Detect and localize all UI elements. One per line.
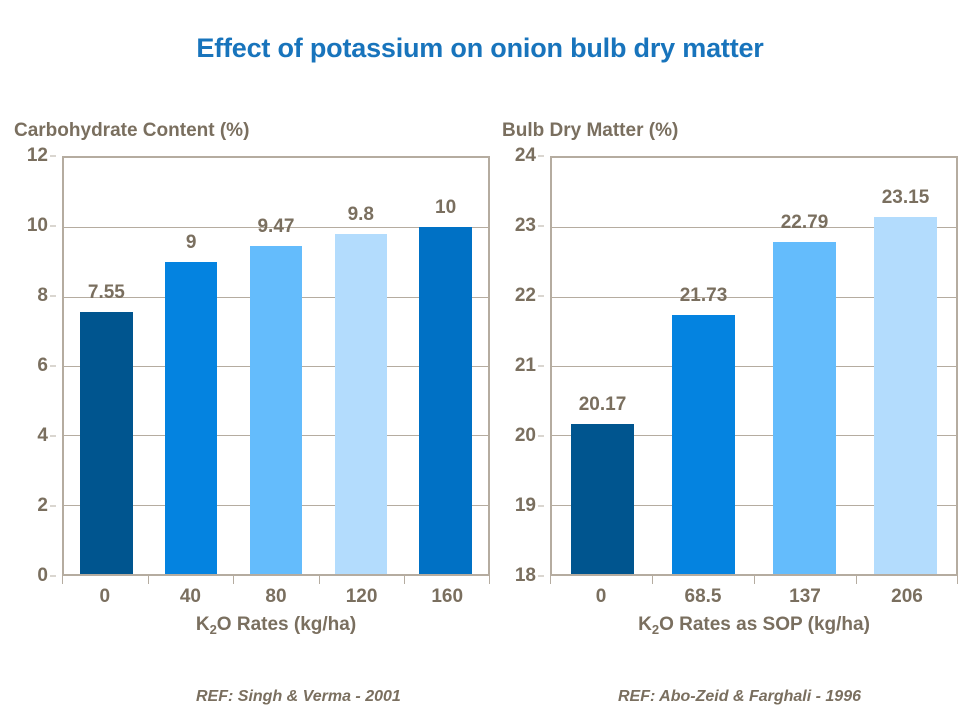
x-axis-title-subscript: 2	[652, 622, 659, 637]
x-axis-left: 04080120160	[62, 576, 490, 610]
y-tick-label: 22	[515, 285, 536, 307]
y-tick-mark	[538, 506, 544, 507]
chart-title-left: Carbohydrate Content (%)	[14, 118, 490, 144]
x-tick-mark	[652, 576, 653, 584]
bar[interactable]: 23.15	[874, 217, 937, 574]
bar[interactable]: 9	[165, 262, 218, 574]
x-axis-title-text: K	[638, 614, 652, 635]
x-tick-label: 80	[233, 576, 319, 608]
reference-citation-left: REF: Singh & Verma - 2001	[196, 688, 401, 706]
y-tick-label: 2	[37, 495, 48, 517]
y-tick-mark	[50, 156, 56, 157]
slide-root: Effect of potassium on onion bulb dry ma…	[0, 0, 960, 720]
x-tick-slot: 120	[319, 576, 405, 608]
x-tick-mark	[62, 576, 63, 584]
x-tick-list-right: 068.5137206	[550, 576, 958, 608]
bar[interactable]: 9.47	[250, 246, 303, 574]
bar-value-label: 10	[435, 197, 456, 219]
plot-area-right: 20.1721.7322.7923.15	[550, 156, 958, 576]
x-axis-title-text: O Rates (kg/ha)	[217, 614, 356, 635]
bar-value-label: 9.8	[348, 204, 374, 226]
bar[interactable]: 10	[419, 227, 472, 574]
y-tick-mark	[50, 435, 56, 436]
y-axis-right: 18192021222324	[498, 156, 544, 576]
x-tick-mark	[489, 576, 490, 584]
bar[interactable]: 20.17	[571, 424, 634, 574]
x-tick-slot: 0	[550, 576, 652, 608]
bar-slot: 21.73	[653, 158, 754, 574]
y-tick-mark	[50, 506, 56, 507]
x-axis-title-text: O Rates as SOP (kg/ha)	[659, 614, 870, 635]
x-tick-slot: 0	[62, 576, 148, 608]
bar[interactable]: 9.8	[335, 234, 388, 574]
y-tick-label: 6	[37, 355, 48, 377]
bar[interactable]: 7.55	[80, 312, 133, 574]
bar-value-label: 9	[186, 232, 197, 254]
y-tick-label: 0	[37, 565, 48, 587]
x-axis-right: 068.5137206	[550, 576, 958, 610]
y-tick-label: 24	[515, 145, 536, 167]
chart-panel-bulb-dry-matter: Bulb Dry Matter (%) 18192021222324 20.17…	[498, 118, 958, 636]
x-tick-mark	[856, 576, 857, 584]
x-tick-mark	[319, 576, 320, 584]
x-tick-label: 0	[550, 576, 652, 608]
x-axis-title-right: K2O Rates as SOP (kg/ha)	[550, 610, 958, 636]
reference-citation-right: REF: Abo-Zeid & Farghali - 1996	[618, 688, 861, 706]
y-tick-label: 19	[515, 495, 536, 517]
x-tick-label: 206	[856, 576, 958, 608]
x-tick-list-left: 04080120160	[62, 576, 490, 608]
y-tick-label: 20	[515, 425, 536, 447]
bar-chart-carbohydrate: 024681012 7.5599.479.810 04080120160 K2O…	[10, 156, 490, 636]
plot-area-left: 7.5599.479.810	[62, 156, 490, 576]
x-axis-title-subscript: 2	[210, 622, 217, 637]
x-axis-title-text: K	[196, 614, 210, 635]
bar-value-label: 9.47	[257, 216, 294, 238]
y-tick-mark	[50, 225, 56, 226]
bar-value-label: 22.79	[781, 212, 829, 234]
y-tick-label: 4	[37, 425, 48, 447]
bar-series-left: 7.5599.479.810	[64, 158, 488, 574]
x-tick-label: 160	[404, 576, 490, 608]
page-title: Effect of potassium on onion bulb dry ma…	[0, 33, 960, 64]
x-tick-label: 0	[62, 576, 148, 608]
y-tick-mark	[538, 156, 544, 157]
y-tick-mark	[50, 576, 56, 577]
bar-slot: 9.8	[318, 158, 403, 574]
x-tick-label: 137	[754, 576, 856, 608]
y-tick-mark	[50, 295, 56, 296]
y-tick-label: 8	[37, 285, 48, 307]
y-tick-mark	[538, 225, 544, 226]
x-tick-mark	[233, 576, 234, 584]
bar-series-right: 20.1721.7322.7923.15	[552, 158, 956, 574]
y-tick-label: 18	[515, 565, 536, 587]
y-tick-mark	[538, 435, 544, 436]
x-tick-label: 120	[319, 576, 405, 608]
x-tick-slot: 80	[233, 576, 319, 608]
x-tick-mark	[148, 576, 149, 584]
bar[interactable]: 21.73	[672, 315, 735, 574]
x-tick-mark	[550, 576, 551, 584]
x-tick-slot: 137	[754, 576, 856, 608]
x-tick-slot: 206	[856, 576, 958, 608]
x-tick-mark	[957, 576, 958, 584]
y-tick-label: 21	[515, 355, 536, 377]
bar-chart-bulb-dry-matter: 18192021222324 20.1721.7322.7923.15 068.…	[498, 156, 958, 636]
x-axis-title-left: K2O Rates (kg/ha)	[62, 610, 490, 636]
bar-value-label: 21.73	[680, 285, 728, 307]
y-axis-left: 024681012	[10, 156, 56, 576]
bar-slot: 22.79	[754, 158, 855, 574]
bar-slot: 23.15	[855, 158, 956, 574]
chart-panel-carbohydrate: Carbohydrate Content (%) 024681012 7.559…	[10, 118, 490, 636]
x-tick-mark	[404, 576, 405, 584]
bar-slot: 7.55	[64, 158, 149, 574]
x-tick-label: 40	[148, 576, 234, 608]
bar-slot: 10	[403, 158, 488, 574]
bar-value-label: 7.55	[88, 282, 125, 304]
bar-value-label: 23.15	[882, 187, 930, 209]
bar-slot: 20.17	[552, 158, 653, 574]
x-tick-slot: 160	[404, 576, 490, 608]
bar-value-label: 20.17	[579, 394, 627, 416]
bar-slot: 9	[149, 158, 234, 574]
y-tick-mark	[538, 366, 544, 367]
chart-title-right: Bulb Dry Matter (%)	[502, 118, 958, 144]
y-tick-label: 10	[27, 215, 48, 237]
y-tick-mark	[538, 576, 544, 577]
x-tick-slot: 40	[148, 576, 234, 608]
y-tick-label: 23	[515, 215, 536, 237]
x-tick-label: 68.5	[652, 576, 754, 608]
y-tick-mark	[538, 295, 544, 296]
bar[interactable]: 22.79	[773, 242, 836, 574]
x-tick-slot: 68.5	[652, 576, 754, 608]
bar-slot: 9.47	[234, 158, 319, 574]
x-tick-mark	[754, 576, 755, 584]
y-tick-mark	[50, 366, 56, 367]
y-tick-label: 12	[27, 145, 48, 167]
